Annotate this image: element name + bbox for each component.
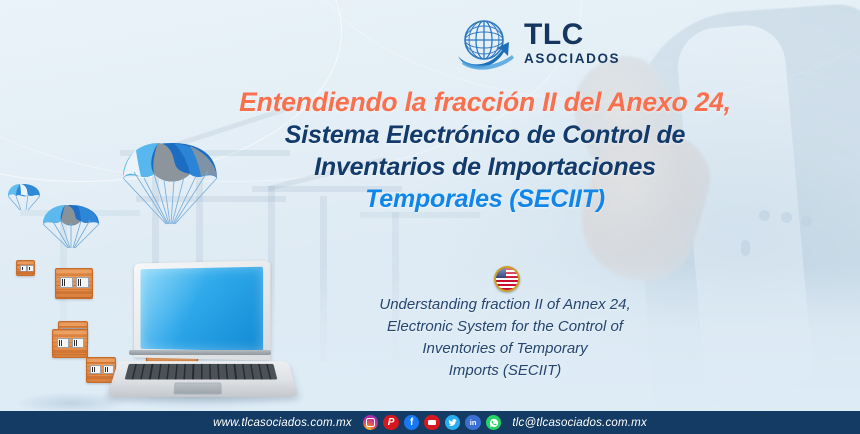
youtube-icon[interactable] [424,415,440,431]
usa-flag-icon [494,266,520,292]
subtitle-line-3: Inventories of Temporary [270,338,740,360]
laptop-keyboard [125,364,278,380]
facebook-icon[interactable]: f [404,415,420,431]
crate-label [60,277,73,288]
email-link[interactable]: tlc@tlcasociados.com.mx [512,417,647,429]
crate-label [72,338,84,348]
headline-line-2: Sistema Electrónico de Control de [120,119,850,151]
english-subtitle-block: Understanding fraction II of Annex 24, E… [270,294,740,382]
social-links: Pfin [363,415,502,431]
linkedin-icon[interactable]: in [465,415,481,431]
headline-line-4: Temporales (SECIIT) [120,183,850,215]
crate-label [57,338,69,348]
laptop-trackpad [173,383,222,395]
laptop-screen [141,267,264,351]
crate-label [76,277,89,288]
logo-wordmark: TLC ASOCIADOS [524,20,620,67]
contact-footer-bar: www.tlcasociados.com.mx Pfin tlc@tlcasoc… [0,411,860,434]
subtitle-line-1: Understanding fraction II of Annex 24, [270,294,740,316]
laptop-illustration [113,262,293,402]
parachute-crate-medium [40,202,102,272]
instagram-icon[interactable] [363,415,379,431]
subtitle-line-4: Imports (SECIIT) [270,360,740,382]
promo-banner: TLC ASOCIADOS [0,0,860,434]
cargo-crate [55,268,93,299]
crate-label [20,265,28,272]
crate-label [27,265,35,272]
whatsapp-icon[interactable] [486,415,502,431]
headline-block: Entendiendo la fracción II del Anexo 24,… [120,86,850,215]
twitter-icon[interactable] [445,415,461,431]
crate-label [90,365,101,374]
subtitle-line-2: Electronic System for the Control of [270,316,740,338]
laptop-hinge [129,350,271,355]
website-link[interactable]: www.tlcasociados.com.mx [213,417,352,429]
headline-line-1: Entendiendo la fracción II del Anexo 24, [120,86,850,119]
headline-line-3: Inventarios de Importaciones [120,151,850,183]
laptop-lid [134,260,270,360]
cargo-crate [16,260,35,276]
logo-name: TLC [524,20,620,50]
flag-stripes [496,268,518,290]
parachute-crate-small [4,182,44,228]
logo-tagline: ASOCIADOS [524,51,620,67]
flag-gloss [496,268,518,279]
pinterest-icon[interactable]: P [383,415,399,431]
cargo-crate [52,329,88,358]
globe-arrow-icon [456,16,518,74]
tlc-logo[interactable]: TLC ASOCIADOS [452,8,627,80]
